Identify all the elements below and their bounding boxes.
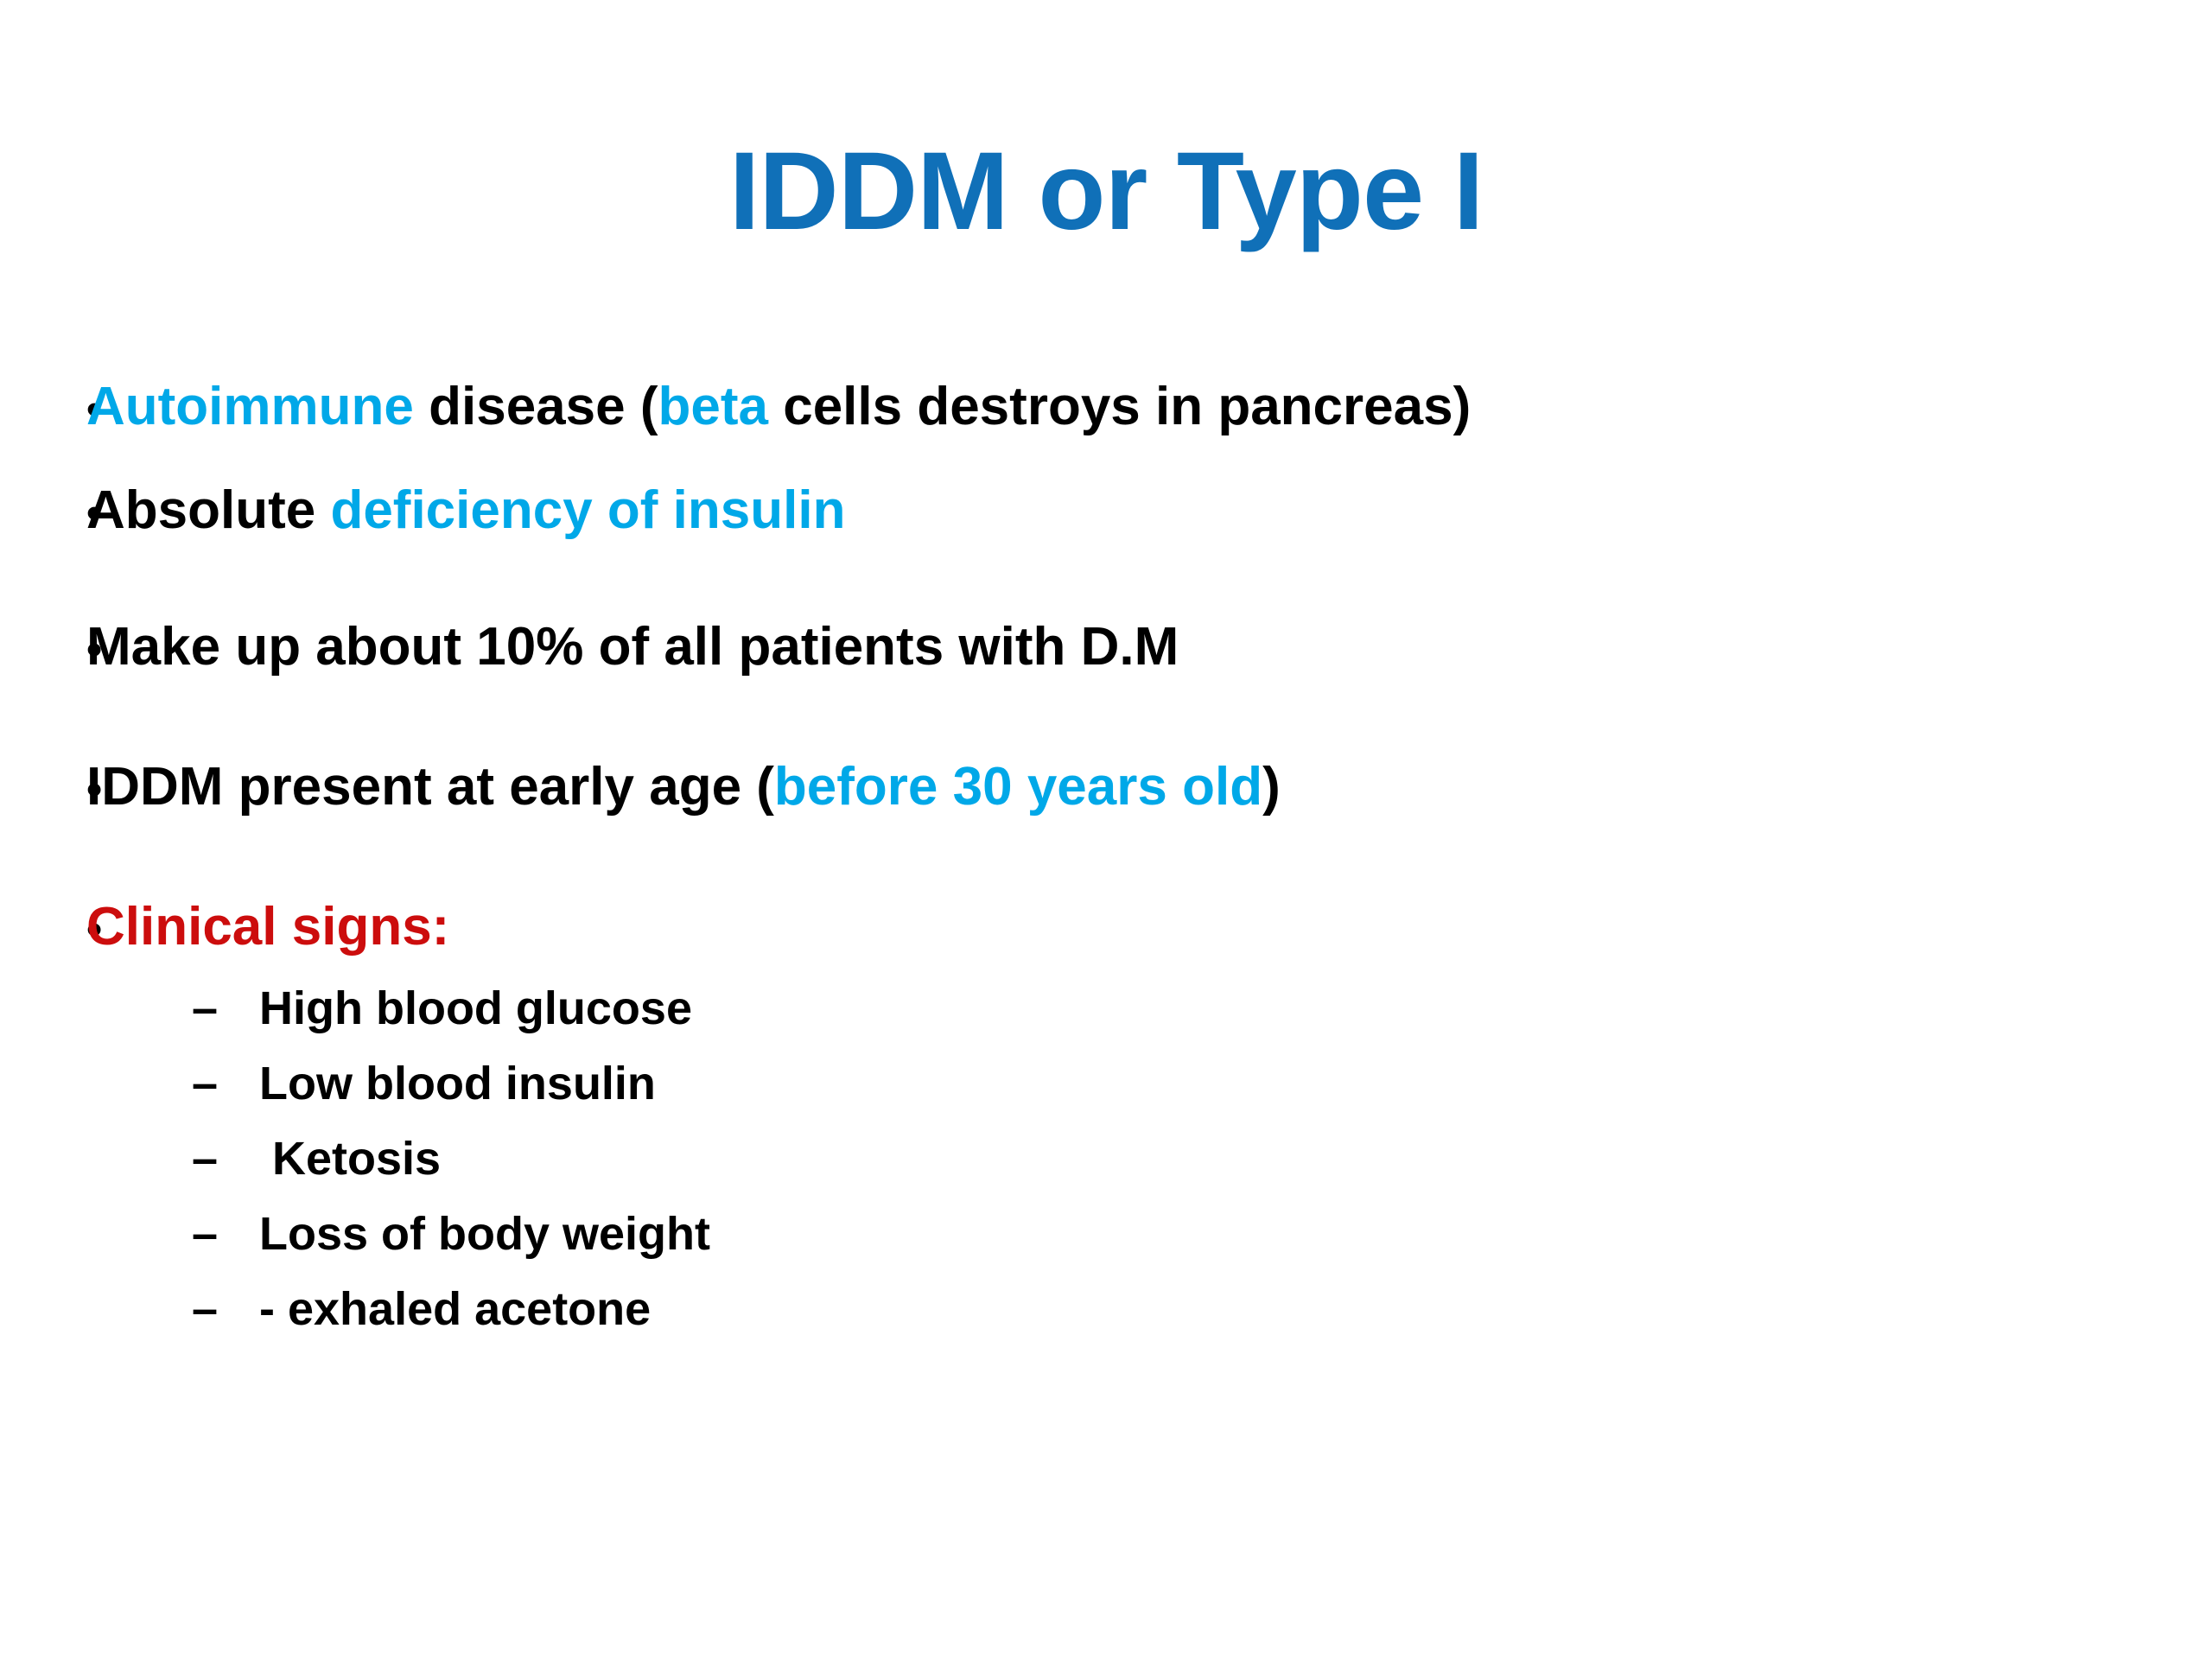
sub-bullet-label-exhaled-acetone: - exhaled acetone: [192, 1286, 651, 1332]
run-deficiency-of-insulin: deficiency of insulin: [330, 480, 845, 540]
run-beta: beta: [658, 377, 768, 436]
bullet-dot-icon: •: [0, 491, 86, 536]
bullet-dot-icon: •: [0, 387, 86, 432]
bullet-text-autoimmune-disease: Autoimmune disease (beta cells destroys …: [86, 380, 1471, 434]
bullet-text-ten-percent-of-patients: Make up about 10% of all patients with D…: [86, 620, 1179, 674]
bullet-item-ten-percent-of-patients: • Make up about 10% of all patients with…: [0, 620, 2212, 674]
bullet-text-early-age-onset: IDDM present at early age (before 30 yea…: [86, 760, 1281, 814]
bullet-item-clinical-signs: • Clinical signs:: [0, 900, 2212, 954]
en-dash-icon: –: [0, 1060, 192, 1107]
row-spacer: [0, 1032, 2212, 1060]
slide-canvas: IDDM or Type I • Autoimmune disease (bet…: [0, 0, 2212, 1659]
run-cells-destroys: cells destroys in pancreas): [768, 377, 1471, 436]
bullet-item-autoimmune-disease: • Autoimmune disease (beta cells destroy…: [0, 380, 2212, 434]
row-spacer: [0, 1182, 2212, 1211]
bullet-text-clinical-signs: Clinical signs:: [86, 900, 449, 954]
group-spacer: [0, 537, 2212, 620]
sub-bullet-item-loss-of-body-weight: – Loss of body weight: [0, 1211, 2212, 1257]
sub-bullet-label-high-blood-glucose: High blood glucose: [192, 985, 692, 1032]
run-disease-open: disease (: [429, 377, 658, 436]
sub-bullet-item-exhaled-acetone: – - exhaled acetone: [0, 1286, 2212, 1332]
run-iddm-present-open: IDDM present at early age (: [86, 757, 774, 817]
group-spacer: [0, 954, 2212, 985]
run-absolute: Absolute: [86, 480, 330, 540]
row-spacer: [0, 434, 2212, 484]
group-spacer: [0, 674, 2212, 760]
row-spacer: [0, 1257, 2212, 1286]
sub-bullet-label-ketosis: Ketosis: [192, 1135, 441, 1182]
bullet-dot-icon: •: [0, 767, 86, 812]
en-dash-icon: –: [0, 1135, 192, 1182]
run-before-30-years-old: before 30 years old: [774, 757, 1262, 817]
sub-bullet-label-loss-of-body-weight: Loss of body weight: [192, 1211, 710, 1257]
en-dash-icon: –: [0, 1211, 192, 1257]
sub-bullet-label-low-blood-insulin: Low blood insulin: [192, 1060, 656, 1107]
bullet-text-absolute-deficiency: Absolute deficiency of insulin: [86, 484, 845, 537]
run-autoimmune: Autoimmune: [86, 377, 429, 436]
bullet-dot-icon: •: [0, 627, 86, 672]
sub-bullet-item-low-blood-insulin: – Low blood insulin: [0, 1060, 2212, 1107]
bullet-item-absolute-deficiency: • Absolute deficiency of insulin: [0, 484, 2212, 537]
run-close-paren: ): [1262, 757, 1281, 817]
group-spacer: [0, 814, 2212, 900]
row-spacer: [0, 1107, 2212, 1135]
run-make-up-about-10-percent: Make up about 10% of all patients with D…: [86, 617, 1179, 677]
page-title: IDDM or Type I: [0, 134, 2212, 250]
slide-body: • Autoimmune disease (beta cells destroy…: [0, 380, 2212, 1332]
sub-bullet-item-high-blood-glucose: – High blood glucose: [0, 985, 2212, 1032]
bullet-dot-icon: •: [0, 907, 86, 952]
en-dash-icon: –: [0, 1286, 192, 1332]
run-clinical-signs: Clinical signs:: [86, 897, 449, 957]
en-dash-icon: –: [0, 985, 192, 1032]
sub-bullet-item-ketosis: – Ketosis: [0, 1135, 2212, 1182]
bullet-item-early-age-onset: • IDDM present at early age (before 30 y…: [0, 760, 2212, 814]
